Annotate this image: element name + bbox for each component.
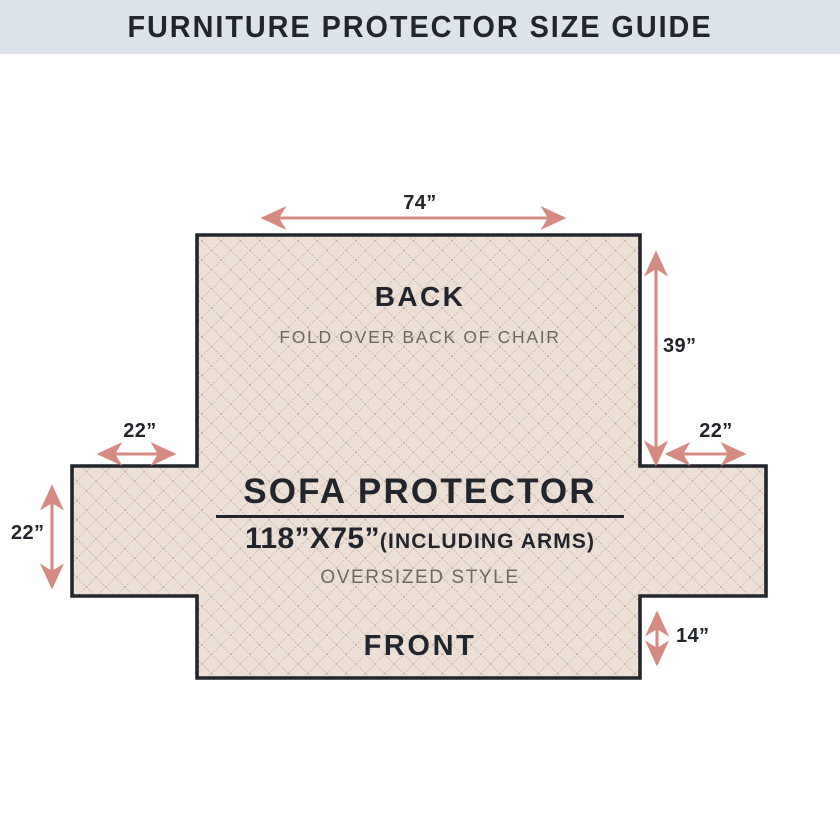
measurement-left-arm-width: 22”: [88, 420, 192, 443]
front-section-label: FRONT: [0, 630, 840, 663]
measurement-right-arm-width: 22”: [664, 420, 768, 443]
title-divider: [216, 515, 624, 518]
product-style: OVERSIZED STYLE: [0, 567, 840, 589]
measurement-back-width: 74”: [0, 192, 840, 215]
back-section-sublabel: FOLD OVER BACK OF CHAIR: [0, 327, 840, 348]
back-section-label: BACK: [0, 281, 840, 313]
dimensions-value: 118”X75”: [245, 522, 380, 555]
center-info-block: SOFA PROTECTOR 118”X75”(INCLUDING ARMS) …: [0, 472, 840, 589]
dimensions-note: (INCLUDING ARMS): [380, 530, 595, 553]
measurement-left-arm-height: 22”: [11, 522, 44, 545]
measurement-back-height: 39”: [663, 335, 696, 358]
measurement-front-depth: 14”: [676, 625, 709, 648]
product-title: SOFA PROTECTOR: [0, 472, 840, 512]
product-dimensions: 118”X75”(INCLUDING ARMS): [0, 522, 840, 559]
size-guide-canvas: FURNITURE PROTECTOR SIZE GUIDE: [0, 0, 840, 840]
